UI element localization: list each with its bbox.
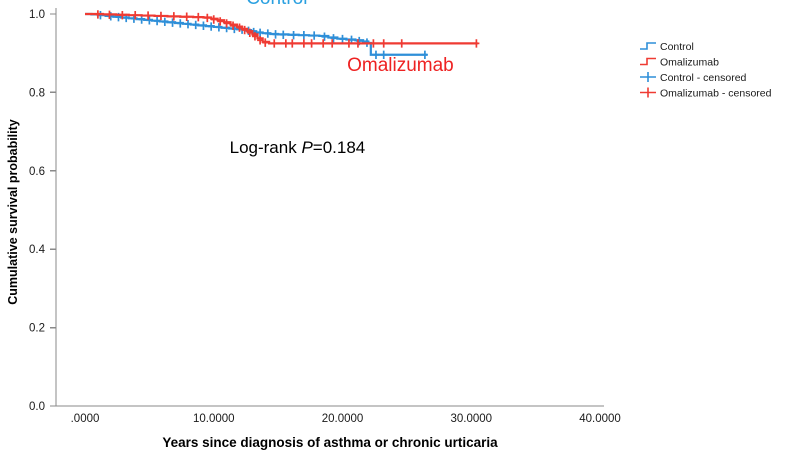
x-tick-label: 10.0000 — [193, 413, 235, 425]
legend-label: Omalizumab - censored — [660, 88, 772, 100]
legend-item: Omalizumab - censored — [640, 88, 772, 100]
y-tick-label: 0.4 — [29, 244, 46, 256]
x-tick-label: .0000 — [71, 413, 100, 425]
x-tick-label: 20.0000 — [322, 413, 364, 425]
log-rank-annotation: Log-rank P=0.184 — [230, 138, 366, 157]
x-tick-label: 40.0000 — [579, 413, 621, 425]
y-tick-label: 0.6 — [29, 166, 45, 178]
legend-label: Control — [660, 41, 694, 53]
kaplan-meier-survival-chart: 0.00.20.40.60.81.0 .000010.000020.000030… — [0, 0, 800, 460]
y-tick-label: 1.0 — [29, 9, 45, 21]
legend-label: Omalizumab — [660, 57, 719, 69]
y-axis-title: Cumulative survival probability — [6, 119, 20, 305]
legend-label: Control - censored — [660, 72, 747, 84]
y-tick-label: 0.8 — [29, 87, 45, 99]
control-curve-label: Control — [246, 0, 307, 9]
y-tick-label: 0.2 — [29, 323, 45, 335]
x-axis-title: Years since diagnosis of asthma or chron… — [162, 435, 498, 450]
y-tick-label: 0.0 — [29, 401, 45, 413]
x-tick-label: 30.0000 — [450, 413, 492, 425]
omalizumab-curve-label: Omalizumab — [347, 55, 454, 76]
